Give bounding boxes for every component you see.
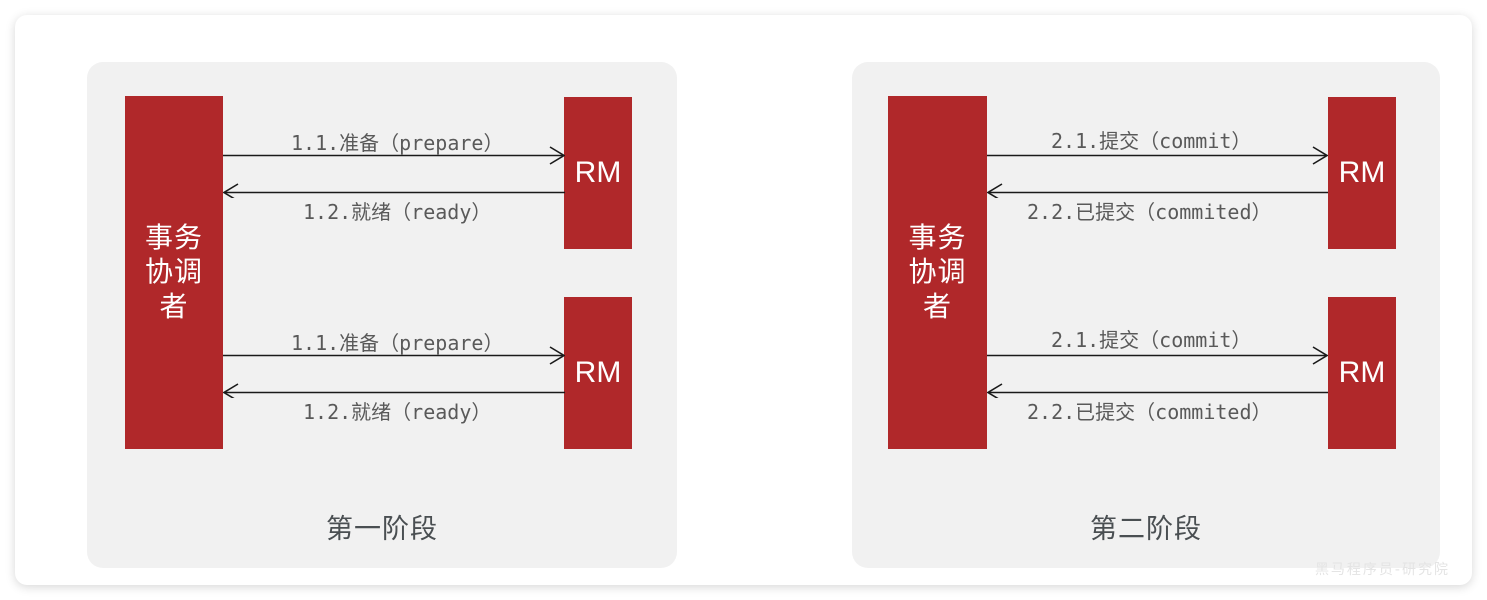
phase-one-panel: 事务协调者 RM RM 1.1.准备（prepare） 1.2.就绪（ready…: [87, 62, 677, 568]
coordinator-node-phase-two: 事务协调者: [888, 96, 987, 449]
response-arrow-head: [224, 184, 238, 198]
rm-node-phase-one-2: RM: [564, 297, 632, 449]
response-arrow-head: [988, 184, 1002, 198]
response-arrow-head: [224, 384, 238, 398]
rm-label: RM: [1339, 355, 1386, 392]
coordinator-label-line-1: 事务: [908, 221, 966, 254]
rm-node-phase-one-1: RM: [564, 97, 632, 249]
response-arrow-head: [988, 384, 1002, 398]
rm-node-phase-two-2: RM: [1328, 297, 1396, 449]
phase-one-caption: 第一阶段: [87, 507, 677, 546]
coordinator-label-line-3: 者: [159, 290, 188, 323]
watermark-text: 黑马程序员-研究院: [1315, 559, 1450, 579]
coordinator-label: 事务协调者: [145, 221, 203, 323]
coordinator-label-line-3: 者: [923, 290, 952, 323]
message-label-ready-1: 1.2.就绪（ready）: [303, 196, 491, 225]
diagram-card: 事务协调者 RM RM 1.1.准备（prepare） 1.2.就绪（ready…: [15, 15, 1472, 585]
rm-label: RM: [575, 355, 622, 392]
rm-label: RM: [1339, 155, 1386, 192]
coordinator-node-phase-one: 事务协调者: [125, 96, 223, 449]
message-label-commited-2: 2.2.已提交（commited）: [1027, 396, 1272, 425]
rm-label: RM: [575, 155, 622, 192]
message-label-commit-2: 2.1.提交（commit）: [1051, 324, 1251, 353]
rm-node-phase-two-1: RM: [1328, 97, 1396, 249]
message-label-prepare-1: 1.1.准备（prepare）: [291, 127, 503, 156]
phase-two-caption: 第二阶段: [852, 507, 1440, 546]
message-label-commited-1: 2.2.已提交（commited）: [1027, 196, 1272, 225]
phase-two-panel: 事务协调者 RM RM 2.1.提交（commit） 2.2.已提交（commi…: [852, 62, 1440, 568]
coordinator-label: 事务协调者: [908, 221, 966, 323]
diagram-canvas: 事务协调者 RM RM 1.1.准备（prepare） 1.2.就绪（ready…: [0, 0, 1487, 600]
coordinator-label-line-2: 协调: [145, 255, 203, 288]
message-label-commit-1: 2.1.提交（commit）: [1051, 125, 1251, 154]
coordinator-label-line-1: 事务: [145, 221, 203, 254]
coordinator-label-line-2: 协调: [908, 255, 966, 288]
message-label-ready-2: 1.2.就绪（ready）: [303, 396, 491, 425]
message-label-prepare-2: 1.1.准备（prepare）: [291, 327, 503, 356]
